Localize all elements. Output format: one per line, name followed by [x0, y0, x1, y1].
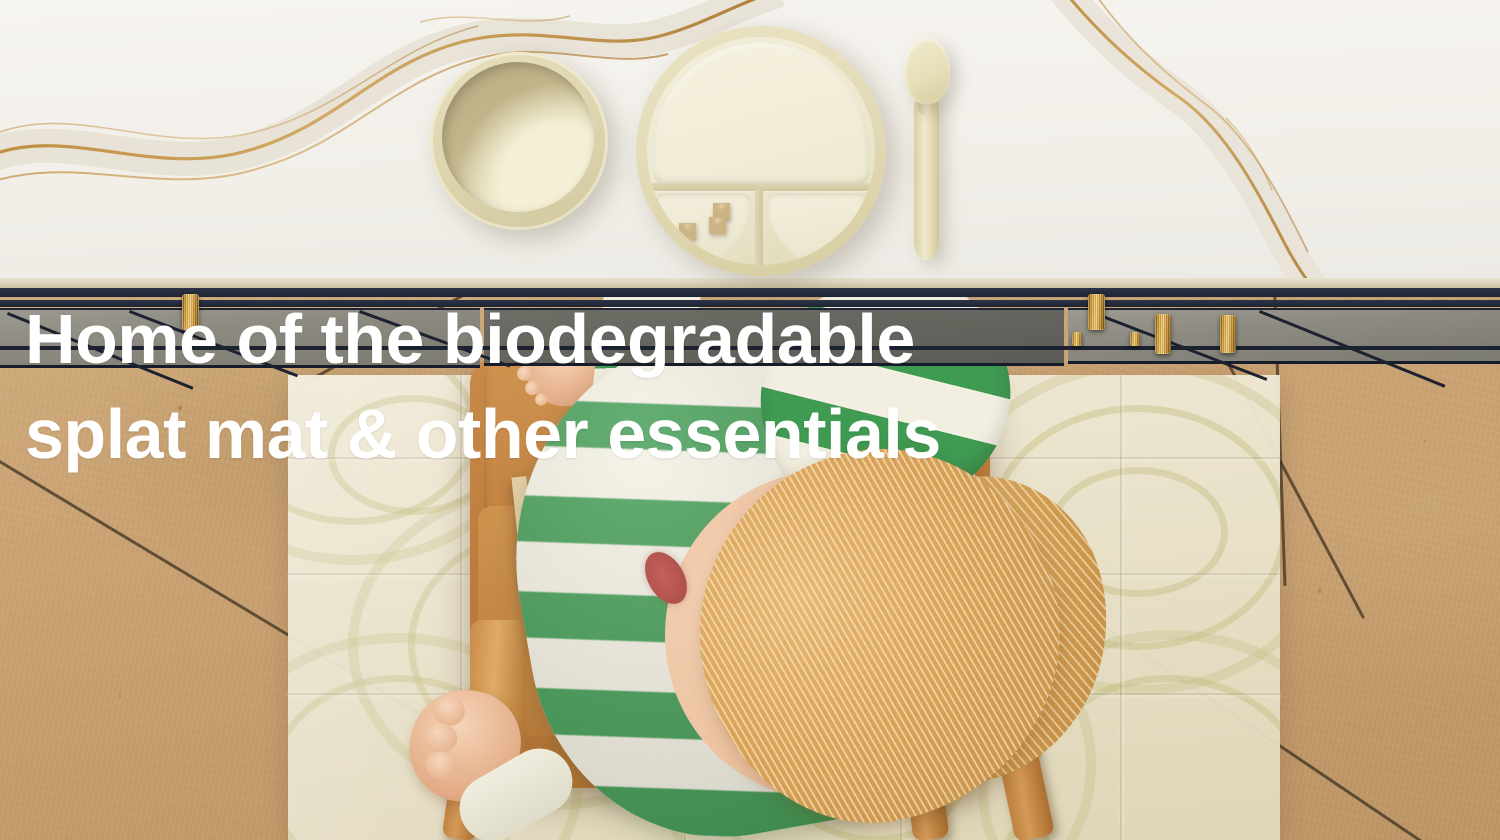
hero-headline: Home of the biodegradable splat mat & ot… [25, 292, 1025, 482]
cabinet-knob[interactable] [1155, 314, 1171, 354]
spoon-bowl [904, 38, 950, 104]
counter-edge [0, 278, 1500, 288]
plate-interior [647, 37, 875, 265]
plate-section-top [653, 43, 869, 185]
divided-plate [636, 26, 886, 276]
headline-line-2: splat mat & other essentials [25, 387, 1025, 482]
suction-bowl [430, 52, 608, 230]
hero-banner: Home of the biodegradable splat mat & ot… [0, 0, 1500, 840]
cabinet-knob[interactable] [1130, 332, 1140, 346]
headline-line-1: Home of the biodegradable [25, 292, 1025, 387]
cereal-piece [709, 217, 726, 234]
cabinet-knob[interactable] [1088, 294, 1105, 330]
plate-section-bottom-right [767, 193, 867, 265]
cabinet-knob[interactable] [1220, 315, 1236, 353]
baby-spoon [900, 38, 954, 260]
plate-divider [755, 187, 763, 265]
plate-section-bottom-left [655, 193, 751, 265]
cereal-piece [665, 237, 682, 254]
cabinet-knob[interactable] [1072, 332, 1082, 346]
bowl-rim [430, 52, 608, 230]
